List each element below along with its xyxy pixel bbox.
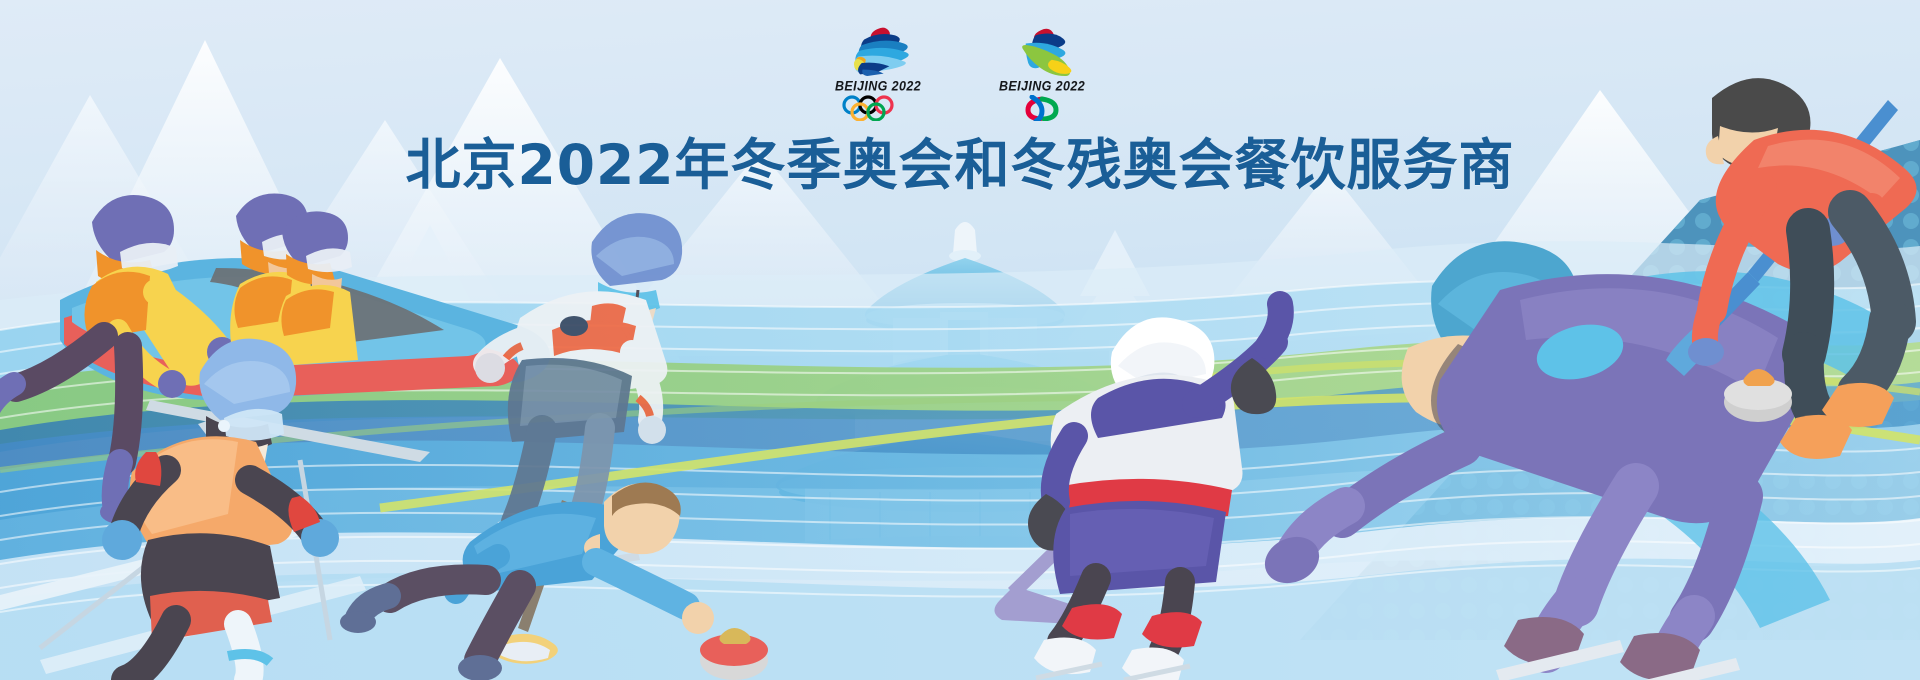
paralympic-logo-block: BEIJING 2022 (988, 24, 1096, 121)
olympic-wordmark: BEIJING 2022 (835, 78, 921, 94)
olympic-rings-icon (838, 95, 918, 121)
olympic-banner: BEIJING 2022 BEIJING 2022 (0, 0, 1920, 680)
page-title: 北京2022年冬季奥会和冬残奥会餐饮服务商 (0, 120, 1920, 200)
paralympic-wordmark: BEIJING 2022 (999, 78, 1085, 94)
olympic-logo-block: BEIJING 2022 (824, 24, 932, 121)
paralympic-emblem-icon (1001, 24, 1083, 76)
emblem-row: BEIJING 2022 BEIJING 2022 (0, 24, 1920, 121)
agitos-icon (1002, 95, 1082, 121)
olympic-emblem-icon (837, 24, 919, 76)
